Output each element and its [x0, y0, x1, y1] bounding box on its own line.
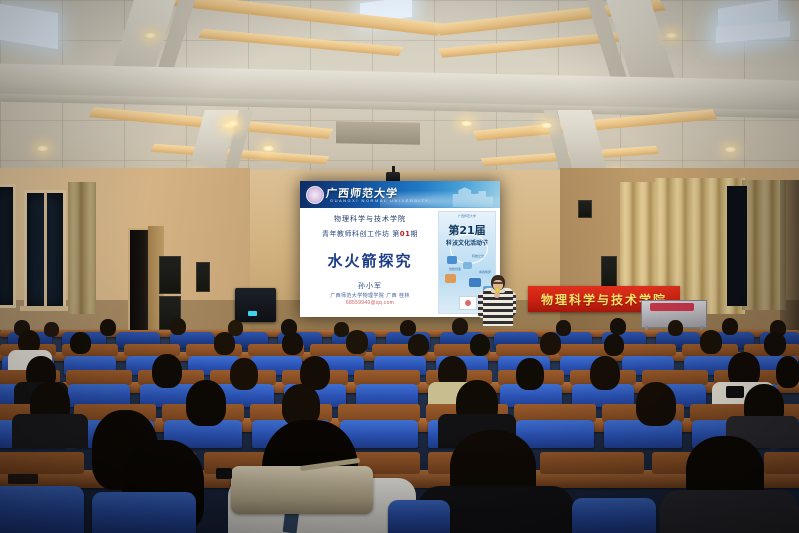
poster-tag-1: 创新创造 [449, 267, 461, 271]
slide-author-name: 孙小军 [306, 281, 434, 291]
slide-department: 物理科学与技术学院 [308, 214, 432, 224]
window-mullion [44, 192, 47, 308]
downlight [226, 120, 239, 127]
wall-speaker-cabinet [159, 256, 181, 294]
slide-body: 物理科学与技术学院 青年教师科创工作坊 第01期 水火箭探究 孙小军 广西师范大… [300, 208, 500, 317]
wall-speaker-cabinet [601, 256, 617, 290]
monitor-screen-glow [248, 311, 257, 316]
slide-subtitle-suffix: 期 [410, 230, 418, 238]
poster-tag-2: 青春筑梦 [479, 270, 491, 274]
wall-speaker-cabinet [578, 200, 592, 218]
slide-header-banner: 广西师范大学 GUANGXI NORMAL UNIVERSITY [300, 181, 500, 208]
downlight [665, 32, 678, 39]
poster-tag-0: 科技之光 [472, 254, 484, 258]
slide-issue-number: 01 [400, 230, 411, 238]
slide-subtitle-prefix: 青年教师科创工作坊 第 [322, 230, 400, 238]
slide-affiliation: 广西师范大学物理学院 广西 桂林 [304, 292, 436, 299]
left-curtain [68, 182, 96, 314]
seat-back-panel [540, 452, 644, 474]
ceiling-air-vent [336, 121, 420, 144]
downlight [540, 122, 553, 129]
downlight [36, 145, 49, 152]
wall-speaker-cabinet [196, 262, 210, 292]
presenter-hand [494, 292, 500, 298]
university-seal-icon [306, 186, 324, 204]
seat-back-panel [764, 452, 799, 474]
podium-monitor [235, 288, 276, 322]
downlight [262, 145, 275, 152]
slide-main-title: 水火箭探究 [306, 250, 434, 271]
cart-item [650, 303, 694, 311]
phone-on-desk [216, 468, 232, 479]
poster-figure-icon [469, 278, 481, 287]
downlight [144, 32, 157, 39]
seat-back-panel [620, 344, 676, 356]
slide-subtitle: 青年教师科创工作坊 第01期 [304, 229, 436, 239]
glasses-icon [493, 282, 503, 284]
seat [0, 486, 84, 533]
left-window-outer [0, 184, 16, 308]
seat-back-panel [0, 452, 84, 474]
seat [388, 500, 450, 533]
downlight [724, 146, 737, 153]
lecture-hall-photo: 广西师范大学 GUANGXI NORMAL UNIVERSITY 物理科学与技术… [0, 0, 799, 533]
seat-back-panel [354, 370, 420, 385]
book-on-desk [8, 474, 38, 484]
slide-email: 68559940@qq.com [304, 300, 436, 306]
projection-screen: 广西师范大学 GUANGXI NORMAL UNIVERSITY 物理科学与技术… [300, 181, 500, 317]
seat-back-panel [66, 370, 132, 385]
poster-inset-badge-icon [465, 300, 471, 306]
right-wall-shadow [780, 180, 799, 330]
backpack-on-desk [231, 466, 373, 514]
poster-figure-icon [447, 256, 457, 264]
poster-figure-icon [463, 262, 472, 269]
seat [92, 492, 196, 533]
university-name-en: GUANGXI NORMAL UNIVERSITY [330, 198, 429, 203]
seat [572, 498, 656, 533]
camera-phone [726, 386, 744, 398]
poster-header: 广西师范大学 [439, 214, 495, 218]
right-window-gap [727, 186, 747, 306]
window-sill [20, 306, 70, 311]
downlight [460, 120, 473, 127]
poster-figure-icon [445, 274, 456, 283]
